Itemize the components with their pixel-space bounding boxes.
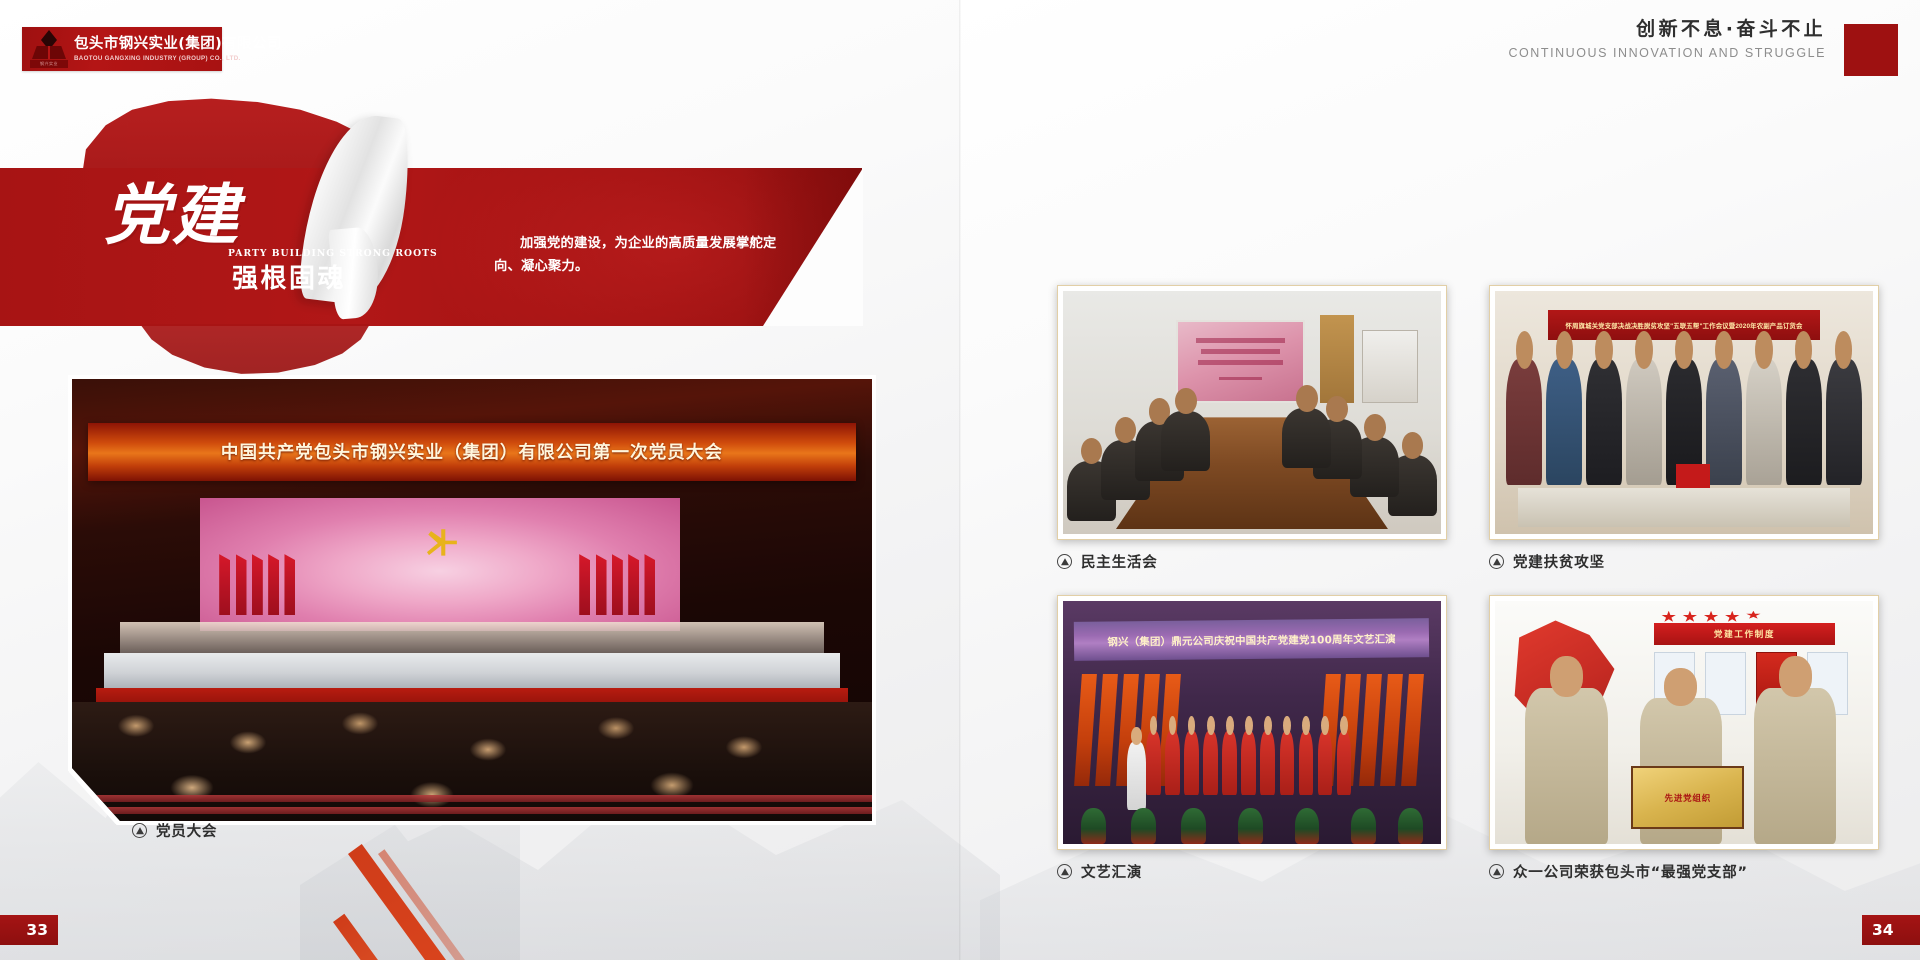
- group-photo-banner-text: 怀周旗城关党支部决战决胜脱贫攻坚"五联五帮"工作会议暨2020年农副产品订货会: [1565, 321, 1802, 330]
- projection-screen: [1176, 320, 1305, 403]
- photo-art-performance: 钢兴（集团）鼎元公司庆祝中国共产党建党100周年文艺汇演: [1057, 595, 1447, 850]
- red-flag-decoration: [1676, 464, 1710, 488]
- award-plaque: 先进党组织: [1631, 766, 1744, 829]
- slogan-en: CONTINUOUS INNOVATION AND STRUGGLE: [1508, 46, 1826, 60]
- meeting-room-cabinet: [1362, 330, 1419, 403]
- stage-led-screen: [200, 498, 680, 631]
- caption-text: 众一公司荣获包头市“最强党支部”: [1513, 861, 1748, 882]
- photo-strongest-party-branch: 党建工作制度 先进党组织: [1489, 595, 1879, 850]
- caption-art-performance: 文艺汇演: [1057, 861, 1142, 882]
- meeting-room-door: [1320, 315, 1354, 402]
- caption-party-congress: 党员大会: [132, 820, 217, 841]
- spread-gutter: [959, 0, 961, 960]
- seat-row: [72, 807, 872, 814]
- caption-text: 党员大会: [156, 820, 217, 841]
- banner-description: 加强党的建设，为企业的高质量发展掌舵定向、凝心聚力。: [494, 232, 784, 279]
- company-logo-mark-icon: 钢兴实业: [28, 29, 70, 69]
- page-number-right: 34: [1862, 915, 1920, 945]
- meeting-attendees: [1063, 403, 1441, 534]
- performance-banner: 钢兴（集团）鼎元公司庆祝中国共产党建党100周年文艺汇演: [1074, 619, 1430, 662]
- banner-title-block: 党建 PARTY BUILDING STRONG ROOTS 强根固魂: [104, 182, 404, 248]
- slogan-red-square: [1844, 24, 1898, 76]
- choir-performers: [1146, 723, 1358, 796]
- conductor: [1127, 742, 1146, 810]
- circled-up-triangle-icon: [1489, 554, 1504, 569]
- caption-strongest-party-branch: 众一公司荣获包头市“最强党支部”: [1489, 861, 1748, 882]
- wall-board-title-text: 党建工作制度: [1714, 628, 1775, 640]
- stage-flags-left: [219, 533, 301, 615]
- circled-up-triangle-icon: [132, 823, 147, 838]
- photo-strongest-party-branch-image: 党建工作制度 先进党组织: [1495, 601, 1873, 844]
- logo-mark-text: 钢兴实业: [30, 60, 68, 68]
- wall-stars-decoration: [1661, 611, 1767, 623]
- performance-banner-text: 钢兴（集团）鼎元公司庆祝中国共产党建党100周年文艺汇演: [1108, 631, 1397, 649]
- caption-text: 民主生活会: [1081, 551, 1158, 572]
- photo-democratic-life-meeting: [1057, 285, 1447, 540]
- caption-text: 文艺汇演: [1081, 861, 1142, 882]
- stage-flags-right: [579, 533, 661, 615]
- page-number-left: 33: [0, 915, 58, 945]
- wall-board-title: 党建工作制度: [1654, 623, 1835, 645]
- page-header: 钢兴实业 包头市钢兴实业(集团)有限公司 BAOTOU GANGXING IND…: [0, 0, 1920, 100]
- photo-art-performance-image: 钢兴（集团）鼎元公司庆祝中国共产党建党100周年文艺汇演: [1063, 601, 1441, 844]
- caption-text: 党建扶贫攻坚: [1513, 551, 1605, 572]
- stage-banner: 中国共产党包头市钢兴实业（集团）有限公司第一次党员大会: [88, 423, 856, 480]
- photo-poverty-alleviation-image: 怀周旗城关党支部决战决胜脱贫攻坚"五联五帮"工作会议暨2020年农副产品订货会: [1495, 291, 1873, 534]
- photo-party-congress: 中国共产党包头市钢兴实业（集团）有限公司第一次党员大会: [68, 375, 876, 825]
- photo-party-congress-image: 中国共产党包头市钢兴实业（集团）有限公司第一次党员大会: [72, 379, 872, 821]
- caption-poverty-alleviation: 党建扶贫攻坚: [1489, 551, 1605, 572]
- circled-up-triangle-icon: [1057, 864, 1072, 879]
- award-plaque-text: 先进党组织: [1665, 792, 1712, 804]
- slogan-cn: 创新不息·奋斗不止: [1508, 18, 1826, 41]
- stage-potted-plants: [1074, 808, 1429, 844]
- banner-title-main: 党建: [104, 182, 404, 248]
- page-number-left-text: 33: [26, 921, 48, 939]
- caption-democratic-life-meeting: 民主生活会: [1057, 551, 1158, 572]
- banner-title-sub: 强根固魂: [232, 258, 346, 295]
- page-spread: 钢兴实业 包头市钢兴实业(集团)有限公司 BAOTOU GANGXING IND…: [0, 0, 1920, 960]
- header-slogan: 创新不息·奋斗不止 CONTINUOUS INNOVATION AND STRU…: [1508, 18, 1898, 60]
- company-logo: 钢兴实业 包头市钢兴实业(集团)有限公司 BAOTOU GANGXING IND…: [22, 27, 222, 71]
- party-emblem-icon: [426, 527, 460, 557]
- audience-area: [72, 702, 872, 821]
- stage-banner-text: 中国共产党包头市钢兴实业（集团）有限公司第一次党员大会: [221, 439, 723, 464]
- company-name-en: BAOTOU GANGXING INDUSTRY (GROUP) CO., LT…: [74, 55, 282, 62]
- circled-up-triangle-icon: [1057, 554, 1072, 569]
- page-number-right-text: 34: [1872, 921, 1894, 939]
- photo-poverty-alleviation: 怀周旗城关党支部决战决胜脱贫攻坚"五联五帮"工作会议暨2020年农副产品订货会: [1489, 285, 1879, 540]
- photo-democratic-life-meeting-image: [1063, 291, 1441, 534]
- group-photo-table: [1518, 488, 1851, 527]
- company-name-cn: 包头市钢兴实业(集团)有限公司: [74, 36, 282, 53]
- seat-row: [72, 795, 872, 802]
- circled-up-triangle-icon: [1489, 864, 1504, 879]
